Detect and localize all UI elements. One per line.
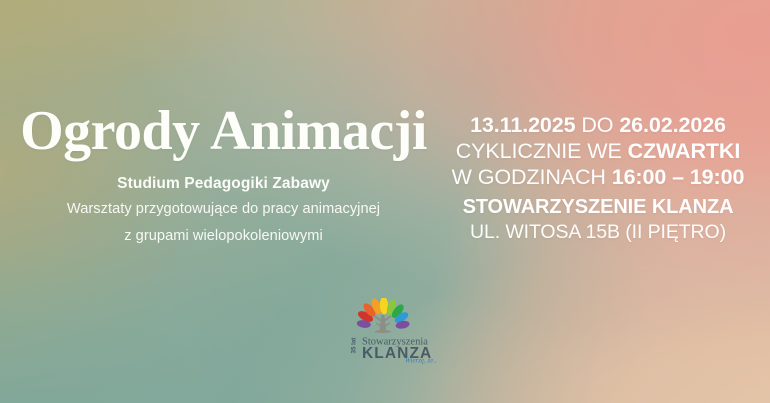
venue-organization: STOWARZYSZENIE KLANZA [440, 196, 756, 219]
schedule-recurrence-day: CZWARTKI [628, 139, 741, 163]
schedule-date-start: 13.11.2025 [470, 113, 575, 137]
schedule-block: 13.11.2025 DO 26.02.2026 CYKLICZNIE WE C… [440, 112, 756, 191]
poster-canvas: Ogrody Animacji Studium Pedagogiki Zabaw… [0, 0, 770, 403]
klanza-logo: 35 lat Stowarzyszenia KLANZA Wierzę, że.… [345, 298, 437, 364]
subtitle-description-line-1: Warsztaty przygotowujące do pracy animac… [0, 199, 447, 220]
schedule-date-range: 13.11.2025 DO 26.02.2026 [440, 112, 756, 138]
logo-tagline-text: Wierzę, że... [405, 357, 437, 365]
schedule-hours-prefix: W GODZINACH [452, 165, 606, 189]
poster-content: Ogrody Animacji Studium Pedagogiki Zabaw… [0, 0, 770, 403]
logo-tree-trunk [374, 315, 392, 333]
logo-anniversary-text: 35 lat [351, 338, 358, 354]
venue-address: UL. WITOSA 15B (II PIĘTRO) [440, 221, 756, 244]
klanza-logo-icon: 35 lat Stowarzyszenia KLANZA Wierzę, że.… [345, 298, 437, 364]
schedule-recurrence-prefix: CYKLICZNIE WE [456, 139, 622, 163]
venue-block: STOWARZYSZENIE KLANZA UL. WITOSA 15B (II… [440, 196, 756, 244]
schedule-hours: W GODZINACH 16:00 – 19:00 [440, 164, 756, 190]
subtitle-description-line-2: z grupami wielopokoleniowymi [0, 226, 447, 247]
page-title: Ogrody Animacji [0, 103, 447, 160]
subtitle-program-name: Studium Pedagogiki Zabawy [0, 175, 447, 193]
schedule-hours-value: 16:00 – 19:00 [612, 165, 745, 189]
schedule-date-connector: DO [581, 113, 613, 137]
logo-wordmark: 35 lat Stowarzyszenia KLANZA Wierzę, że.… [351, 337, 438, 365]
title-block: Ogrody Animacji Studium Pedagogiki Zabaw… [0, 103, 447, 247]
schedule-recurrence: CYKLICZNIE WE CZWARTKI [440, 138, 756, 164]
schedule-date-end: 26.02.2026 [619, 113, 726, 137]
